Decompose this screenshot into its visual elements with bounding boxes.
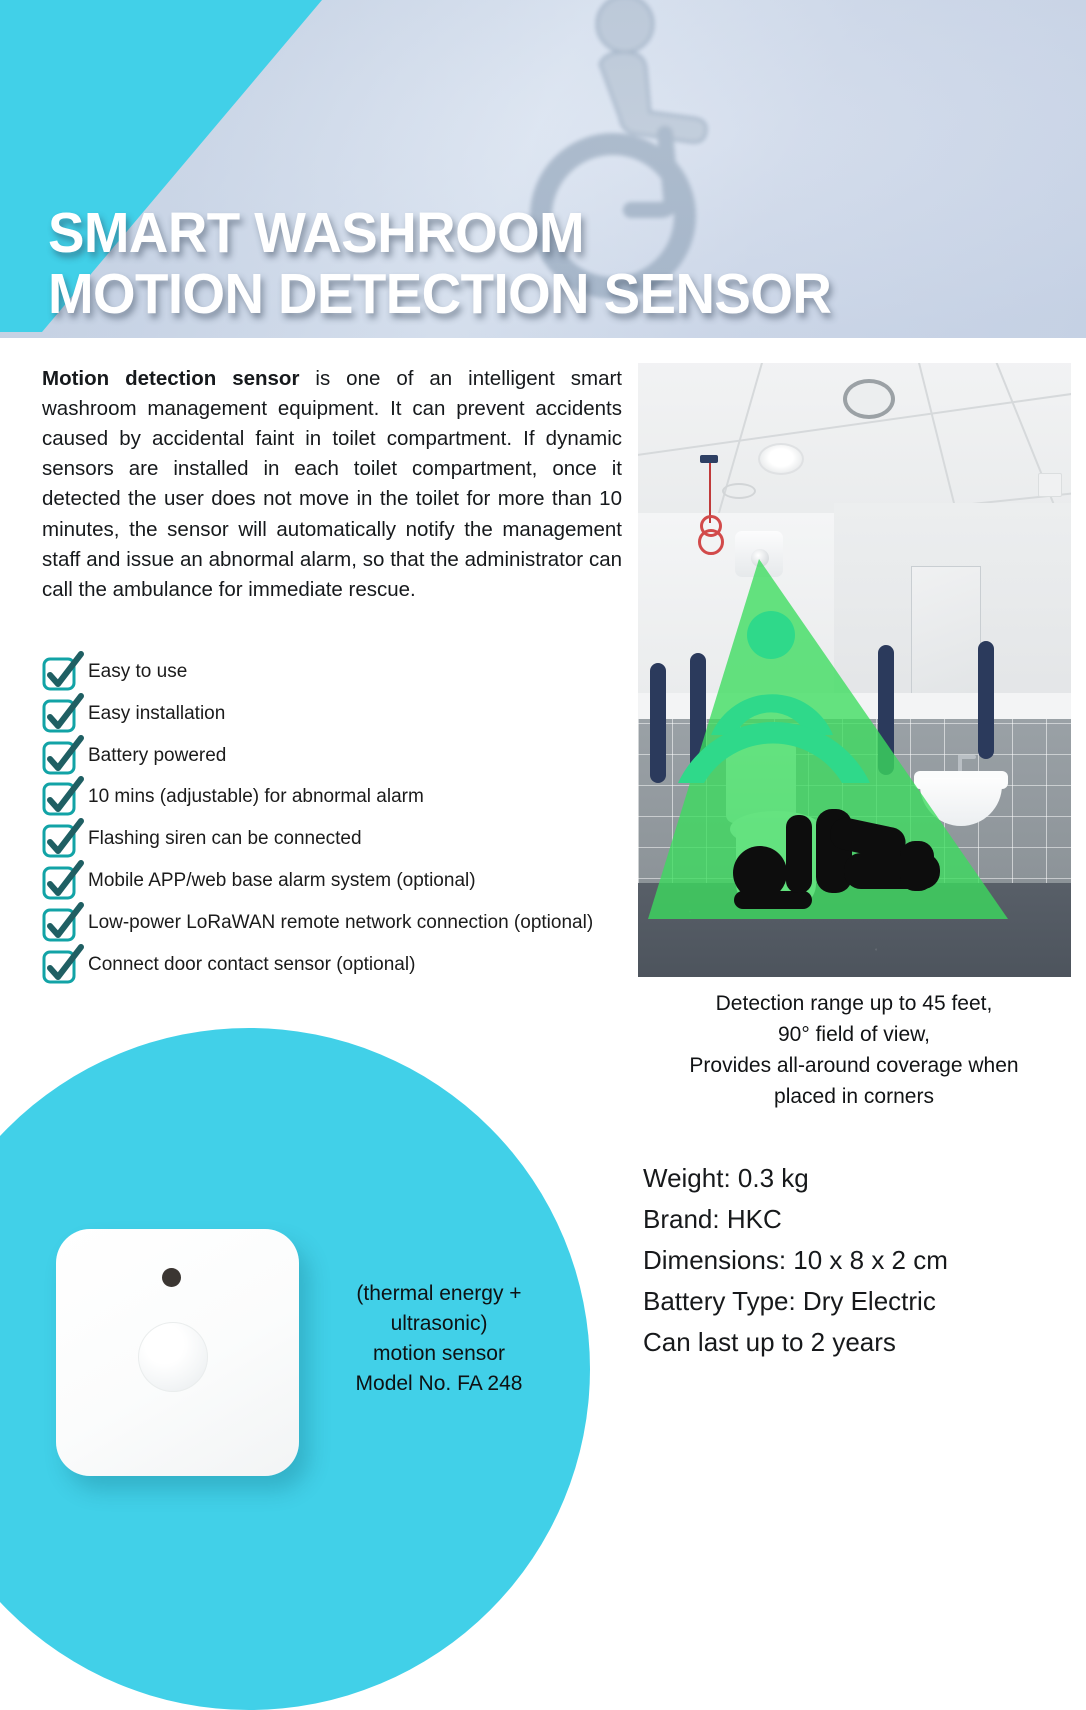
ceiling-downlight xyxy=(758,443,804,475)
list-item: 10 mins (adjustable) for abnormal alarm xyxy=(36,776,636,818)
intro-body: is one of an intelligent smart washroom … xyxy=(42,367,622,601)
list-item: Easy installation xyxy=(36,693,636,735)
caption-line-2: 90° field of view, xyxy=(630,1019,1078,1050)
list-item-label: Battery powered xyxy=(88,745,226,766)
checkmark-icon xyxy=(42,780,82,816)
specification-list: Weight: 0.3 kg Brand: HKC Dimensions: 10… xyxy=(643,1158,1073,1363)
checkmark-icon xyxy=(42,906,82,942)
floor xyxy=(638,883,1071,977)
wall-socket xyxy=(1038,473,1062,497)
caption-line-1: Detection range up to 45 feet, xyxy=(630,988,1078,1019)
checkmark-icon xyxy=(42,655,82,691)
spec-battery-life: Can last up to 2 years xyxy=(643,1322,1073,1363)
caption-line-4: placed in corners xyxy=(630,1081,1078,1112)
pull-cord-mount xyxy=(700,455,718,463)
caption-line-3: Provides all-around coverage when xyxy=(630,1050,1078,1081)
page-title: SMART WASHROOM MOTION DETECTION SENSOR xyxy=(48,205,864,323)
photo-caption: Detection range up to 45 feet, 90° field… xyxy=(630,988,1078,1112)
checkmark-icon xyxy=(42,864,82,900)
grab-rail xyxy=(650,663,666,783)
spec-weight: Weight: 0.3 kg xyxy=(643,1158,1073,1199)
list-item-label: Easy to use xyxy=(88,661,187,682)
list-item: Connect door contact sensor (optional) xyxy=(36,944,636,986)
grab-rail xyxy=(690,653,706,783)
wall-mounted-sensor xyxy=(735,531,783,577)
list-item: Battery powered xyxy=(36,735,636,777)
list-item-label: Easy installation xyxy=(88,703,225,724)
device-caption-line-4: Model No. FA 248 xyxy=(330,1369,548,1399)
checkmark-icon xyxy=(42,822,82,858)
device-caption: (thermal energy + ultrasonic) motion sen… xyxy=(330,1279,548,1399)
title-line-2: MOTION DETECTION SENSOR xyxy=(48,266,831,323)
washroom-photo xyxy=(638,363,1071,977)
header-banner: SMART WASHROOM MOTION DETECTION SENSOR xyxy=(0,0,1086,338)
checkmark-icon xyxy=(42,697,82,733)
feature-list: Easy to use Easy installation Battery po… xyxy=(36,651,636,985)
device-pir-lens xyxy=(138,1322,208,1392)
list-item-label: Low-power LoRaWAN remote network connect… xyxy=(88,912,593,933)
list-item-label: Connect door contact sensor (optional) xyxy=(88,954,415,975)
intro-lead: Motion detection sensor xyxy=(42,367,299,390)
ceiling-vent xyxy=(843,379,895,419)
spec-battery-type: Battery Type: Dry Electric xyxy=(643,1281,1073,1322)
list-item: Flashing siren can be connected xyxy=(36,818,636,860)
ceiling-speaker xyxy=(722,483,756,499)
title-line-1: SMART WASHROOM xyxy=(48,205,831,262)
emergency-pull-cord xyxy=(709,463,711,523)
list-item: Mobile APP/web base alarm system (option… xyxy=(36,860,636,902)
device-led-icon xyxy=(162,1268,181,1287)
grab-rail xyxy=(878,645,894,775)
device-caption-line-3: motion sensor xyxy=(330,1339,548,1369)
intro-paragraph: Motion detection sensor is one of an int… xyxy=(42,364,622,606)
list-item: Easy to use xyxy=(36,651,636,693)
checkmark-icon xyxy=(42,948,82,984)
device-caption-line-2: ultrasonic) xyxy=(330,1309,548,1339)
device-caption-line-1: (thermal energy + xyxy=(330,1279,548,1309)
list-item-label: Flashing siren can be connected xyxy=(88,828,362,849)
toilet-bowl xyxy=(736,818,816,908)
list-item-label: 10 mins (adjustable) for abnormal alarm xyxy=(88,786,424,807)
grab-rail xyxy=(978,641,994,759)
pull-cord-ring xyxy=(698,529,724,555)
spec-brand: Brand: HKC xyxy=(643,1199,1073,1240)
list-item-label: Mobile APP/web base alarm system (option… xyxy=(88,870,476,891)
spec-dimensions: Dimensions: 10 x 8 x 2 cm xyxy=(643,1240,1073,1281)
checkmark-icon xyxy=(42,739,82,775)
list-item: Low-power LoRaWAN remote network connect… xyxy=(36,902,636,944)
motion-sensor-device-photo xyxy=(56,1229,299,1476)
